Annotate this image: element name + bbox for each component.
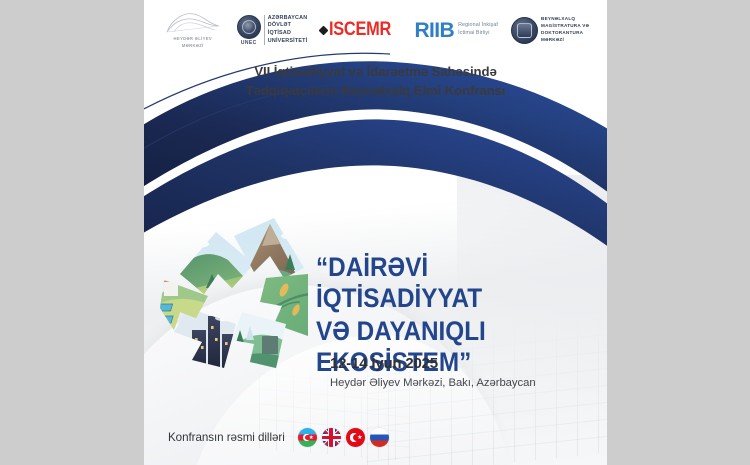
conference-title-line1: VII İqtisadiyyat və İdarəetmə Sahəsində bbox=[144, 62, 607, 81]
logo-line: MAGİSTRATURA VƏ bbox=[541, 23, 589, 30]
logo-riib-wordmark: RIIB bbox=[414, 20, 454, 41]
headline-line1: “DAİRƏVİ İQTİSADİYYAT bbox=[316, 252, 577, 315]
right-gutter bbox=[607, 0, 750, 465]
recycling-ecosystem-illustration bbox=[158, 212, 323, 380]
logo-heydar-aliyev-center: HEYDƏR ƏLİYEV MƏRKƏZİ bbox=[162, 11, 224, 48]
logo-bmdm-text: BEYNƏLXALQ MAGİSTRATURA VƏ DOKTORANTURA … bbox=[541, 16, 589, 44]
diamond-icon bbox=[319, 25, 329, 35]
screenshot-stage: HEYDƏR ƏLİYEV MƏRKƏZİ UNEC AZƏRBAYCAN DÖ… bbox=[0, 0, 750, 465]
unec-seal-wrap: UNEC bbox=[237, 15, 261, 46]
logo-line: DOKTORANTURA bbox=[541, 30, 589, 37]
logo-line: DÖVLƏT bbox=[268, 22, 308, 30]
conference-poster: HEYDƏR ƏLİYEV MƏRKƏZİ UNEC AZƏRBAYCAN DÖ… bbox=[144, 0, 607, 465]
bmdm-seal-icon bbox=[511, 17, 538, 44]
logo-strip: HEYDƏR ƏLİYEV MƏRKƏZİ UNEC AZƏRBAYCAN DÖ… bbox=[144, 6, 607, 54]
logo-unec-text: AZƏRBAYCAN DÖVLƏT İQTİSAD UNİVERSİTETİ bbox=[264, 15, 308, 46]
logo-line: HEYDƏR ƏLİYEV bbox=[174, 36, 213, 42]
logo-riib: RIIB Regional İnkişaf İctimai Birliyi bbox=[414, 20, 498, 41]
logo-unec: UNEC AZƏRBAYCAN DÖVLƏT İQTİSAD UNİVERSİT… bbox=[237, 15, 308, 46]
logo-iscemr-wordmark: ISCEMR bbox=[329, 19, 391, 41]
conference-title: VII İqtisadiyyat və İdarəetmə Sahəsində … bbox=[144, 62, 607, 100]
logo-line: Regional İnkişaf bbox=[458, 22, 498, 30]
flag-united-kingdom-icon bbox=[322, 428, 341, 447]
conference-date: 12-14 İyun 2025 bbox=[330, 355, 536, 372]
unec-abbr: UNEC bbox=[241, 40, 257, 46]
unec-seal-icon bbox=[237, 15, 261, 39]
star-shape: ★ bbox=[309, 436, 314, 441]
flag-turkey-icon: ★ bbox=[346, 428, 365, 447]
logo-heydar-aliyev-center-text: HEYDƏR ƏLİYEV MƏRKƏZİ bbox=[174, 36, 213, 48]
logo-line: UNİVERSİTETİ bbox=[268, 38, 308, 46]
recycling-arrows-icon bbox=[158, 212, 323, 380]
left-gutter bbox=[0, 0, 144, 465]
logo-line: İQTİSAD bbox=[268, 30, 308, 38]
logo-line: MƏRKƏZİ bbox=[541, 37, 589, 44]
conference-venue: Heydər Əliyev Mərkəzi, Bakı, Azərbaycan bbox=[330, 377, 536, 389]
logo-riib-text: Regional İnkişaf İctimai Birliyi bbox=[458, 22, 498, 38]
flag-list: ★ ★ bbox=[298, 428, 389, 447]
logo-line: MƏRKƏZİ bbox=[174, 43, 213, 49]
flag-azerbaijan-icon: ★ bbox=[298, 428, 317, 447]
logo-beynelxalq-magistratura-merkezi: BEYNƏLXALQ MAGİSTRATURA VƏ DOKTORANTURA … bbox=[511, 16, 589, 44]
heydar-aliyev-center-icon bbox=[165, 11, 221, 35]
conference-title-line2: Tədqiqatçıların Beynəlxalq Elmi Konfrans… bbox=[144, 81, 607, 100]
date-venue-block: 12-14 İyun 2025 Heydər Əliyev Mərkəzi, B… bbox=[330, 355, 536, 389]
flag-russia-icon bbox=[370, 428, 389, 447]
logo-iscemr: ISCEMR bbox=[320, 19, 401, 41]
logo-line: İctimai Birliyi bbox=[458, 30, 498, 38]
official-languages-row: Konfransın rəsmi dilləri ★ ★ bbox=[168, 428, 389, 447]
official-languages-label: Konfransın rəsmi dilləri bbox=[168, 431, 285, 444]
star-shape: ★ bbox=[357, 435, 362, 441]
